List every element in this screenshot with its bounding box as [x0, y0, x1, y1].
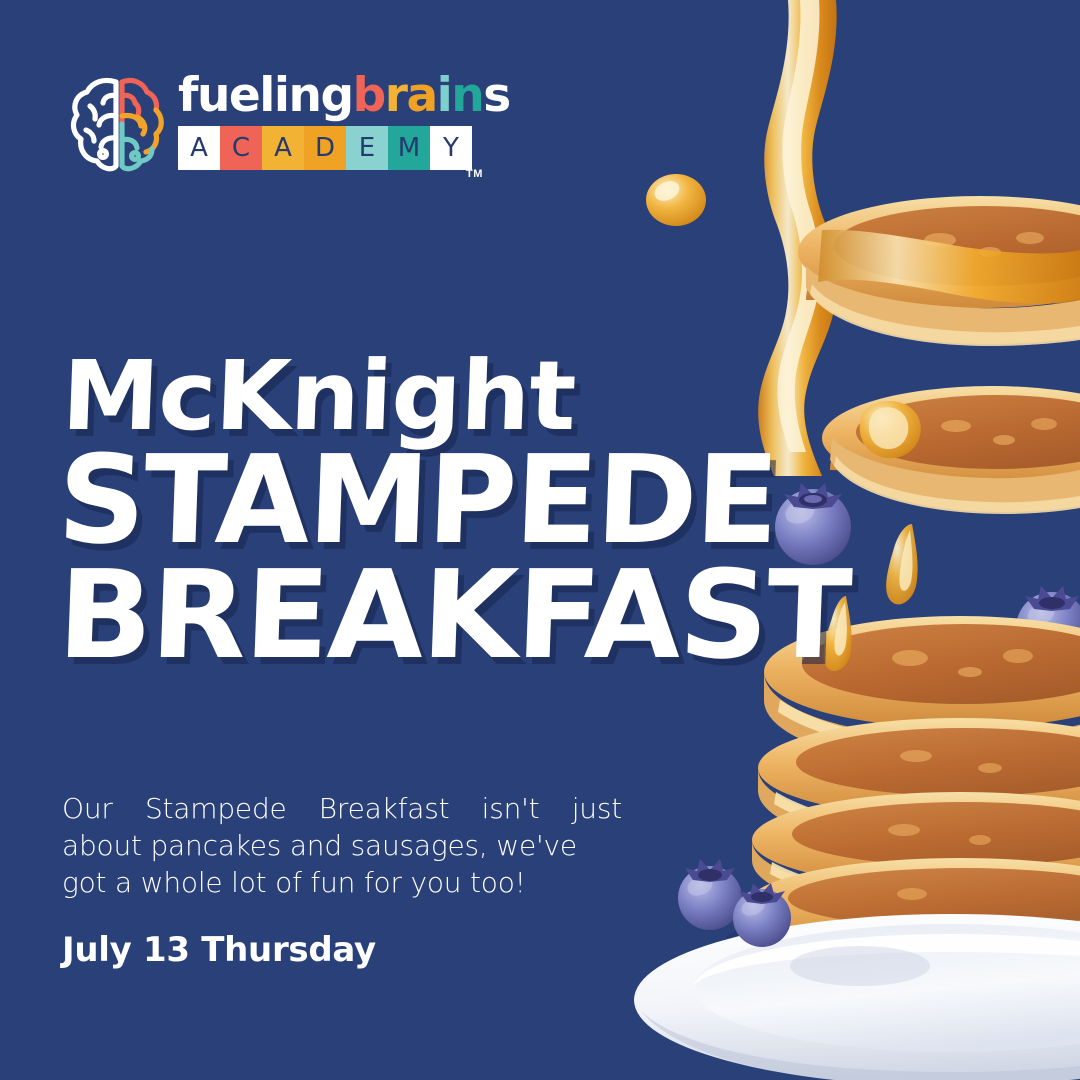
academy-tile-y: Y — [430, 126, 472, 170]
blueberry-plate-1 — [678, 859, 742, 930]
honey-on-top-pancake — [818, 230, 1080, 304]
wordmark-seg-2: r — [385, 68, 407, 123]
pancake-layer-4 — [752, 792, 1080, 916]
wordmark-seg-0: fueling — [178, 68, 353, 123]
wordmark-seg-6: s — [483, 68, 509, 123]
academy-tile-m: M — [388, 126, 430, 170]
honey-blob — [860, 401, 921, 458]
event-date: July 13 Thursday — [62, 930, 376, 970]
wordmark-seg-3: a — [406, 68, 436, 123]
wordmark-text: fuelingbrains — [178, 68, 510, 124]
body-copy: Our Stampede Breakfast isn't just about … — [62, 790, 622, 902]
blueberry-on-stack — [1016, 586, 1080, 664]
pancake-layer-5 — [758, 718, 1080, 850]
headline-group: McKnight STAMPEDE BREAKFAST — [62, 352, 842, 671]
academy-tiles: A C A D E M Y — [178, 126, 472, 170]
academy-tile-c: C — [220, 126, 262, 170]
wordmark-seg-4: i — [437, 68, 452, 123]
trademark-mark: TM — [466, 168, 483, 180]
wordmark-seg-5: n — [451, 68, 483, 123]
headline-line-3: BREAKFAST — [56, 559, 860, 671]
brand-logo[interactable]: fuelingbrains A C A D E M Y TM — [66, 68, 466, 180]
white-plate — [634, 914, 1080, 1080]
blueberry-plate-2 — [733, 883, 791, 947]
headline-line-2: STAMPEDE — [56, 444, 844, 556]
honey-droplet — [646, 174, 706, 226]
academy-tile-a2: A — [262, 126, 304, 170]
body-line-1: Our Stampede Breakfast isn't just — [62, 790, 622, 827]
academy-tile-e: E — [346, 126, 388, 170]
honey-drip-small — [886, 524, 918, 604]
pancake-floating-second — [822, 386, 1080, 514]
brain-icon — [66, 70, 174, 178]
pancake-layer-2 — [750, 918, 1080, 1024]
academy-tile-d: D — [304, 126, 346, 170]
headline-line-1: McKnight — [60, 352, 859, 440]
academy-tile-a1: A — [178, 126, 220, 170]
logo-wordmark: fuelingbrains A C A D E M Y TM — [178, 68, 468, 180]
poster-canvas: fuelingbrains A C A D E M Y TM McKnight … — [0, 0, 1080, 1080]
wordmark-seg-1: b — [353, 68, 385, 123]
body-line-2: about pancakes and sausages, we've — [62, 827, 622, 864]
pancake-layer-3 — [748, 858, 1080, 974]
body-line-3: got a whole lot of fun for you too! — [62, 864, 622, 901]
pancake-floating-top — [798, 196, 1080, 346]
